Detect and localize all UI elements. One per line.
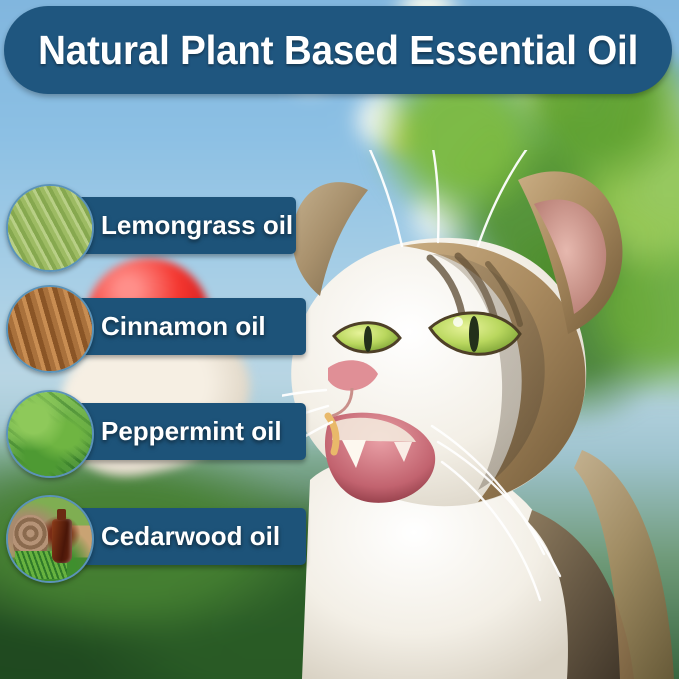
- cinnamon-image: [8, 287, 92, 371]
- cinnamon-thumbnail: [6, 285, 94, 373]
- ingredient-chip-peppermint: Peppermint oil: [0, 403, 306, 460]
- ingredient-bar: Cedarwood oil: [69, 508, 306, 565]
- cedarwood-thumbnail: [6, 495, 94, 583]
- cat-photo: [282, 150, 679, 679]
- peppermint-image: [8, 392, 92, 476]
- page-title: Natural Plant Based Essential Oil: [38, 30, 638, 71]
- headline-banner: Natural Plant Based Essential Oil: [4, 6, 672, 94]
- ingredient-label: Cedarwood oil: [101, 521, 280, 552]
- lemongrass-thumbnail: [6, 184, 94, 272]
- ingredient-bar: Cinnamon oil: [69, 298, 306, 355]
- product-infographic: Natural Plant Based Essential Oil Lemong…: [0, 0, 679, 679]
- ingredient-label: Cinnamon oil: [101, 311, 266, 342]
- peppermint-thumbnail: [6, 390, 94, 478]
- oil-bottle-shape: [52, 519, 72, 563]
- ingredient-chip-cinnamon: Cinnamon oil: [0, 298, 306, 355]
- ingredient-label: Peppermint oil: [101, 416, 282, 447]
- ingredient-chip-lemongrass: Lemongrass oil: [0, 197, 296, 254]
- ingredient-chip-cedarwood: Cedarwood oil: [0, 508, 306, 565]
- ingredient-label: Lemongrass oil: [101, 210, 293, 241]
- lemongrass-image: [8, 186, 92, 270]
- cedarwood-image: [8, 497, 92, 581]
- ingredient-bar: Peppermint oil: [69, 403, 306, 460]
- ingredient-bar: Lemongrass oil: [69, 197, 296, 254]
